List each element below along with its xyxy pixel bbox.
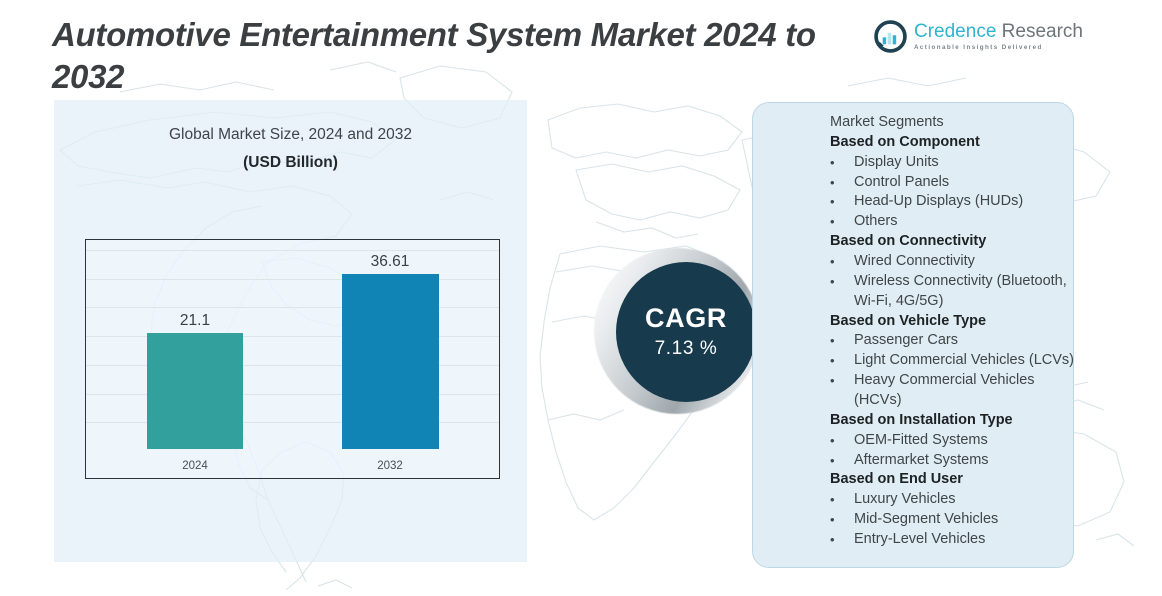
logo-tagline: Actionable Insights Delivered	[914, 44, 1083, 51]
segment-item-label: Wireless Connectivity (Bluetooth, Wi-Fi,…	[854, 272, 1076, 312]
segment-list-item[interactable]: •Aftermarket Systems	[830, 451, 1076, 471]
segment-item-label: Entry-Level Vehicles	[854, 530, 1076, 550]
bullet-icon: •	[830, 490, 854, 510]
chart-bar-value-label: 36.61	[342, 253, 439, 271]
segment-list-item[interactable]: •Wireless Connectivity (Bluetooth, Wi-Fi…	[830, 272, 1076, 312]
infographic-canvas: Automotive Entertainment System Market 2…	[0, 0, 1162, 596]
segment-item-label: Mid-Segment Vehicles	[854, 510, 1076, 530]
segment-list-item[interactable]: •Heavy Commercial Vehicles (HCVs)	[830, 371, 1076, 411]
brand-logo: Credence Research Actionable Insights De…	[874, 16, 1066, 56]
cagr-value: 7.13 %	[655, 338, 718, 360]
segment-item-label: Passenger Cars	[854, 331, 1076, 351]
chart-category-label: 2024	[147, 460, 243, 472]
segment-group-heading: Based on Connectivity	[830, 232, 1076, 252]
page-title: Automotive Entertainment System Market 2…	[52, 14, 882, 98]
bar-chart-circle-icon	[874, 20, 907, 53]
segment-item-label: OEM-Fitted Systems	[854, 431, 1076, 451]
segment-list-item[interactable]: •OEM-Fitted Systems	[830, 431, 1076, 451]
chart-category-label: 2032	[342, 460, 439, 472]
bullet-icon: •	[830, 351, 854, 371]
bullet-icon: •	[830, 212, 854, 232]
logo-name-secondary: Research	[1002, 21, 1083, 42]
bullet-icon: •	[830, 530, 854, 550]
segment-item-label: Aftermarket Systems	[854, 451, 1076, 471]
segment-item-label: Heavy Commercial Vehicles (HCVs)	[854, 371, 1076, 411]
segment-list-item[interactable]: •Wired Connectivity	[830, 252, 1076, 272]
chart-bar	[147, 333, 243, 449]
segment-item-label: Display Units	[854, 153, 1076, 173]
logo-name-primary: Credence	[914, 21, 996, 42]
segment-group-heading: Based on Vehicle Type	[830, 312, 1076, 332]
bullet-icon: •	[830, 451, 854, 471]
market-segments-list: Market Segments Based on Component•Displ…	[830, 113, 1076, 550]
chart-plot-area: 21.1202436.612032	[86, 240, 499, 478]
cagr-label: CAGR	[645, 304, 727, 334]
bar-chart: 21.1202436.612032	[85, 239, 500, 479]
segment-list-item[interactable]: •Entry-Level Vehicles	[830, 530, 1076, 550]
logo-name: Credence Research	[914, 22, 1083, 42]
segment-item-label: Wired Connectivity	[854, 252, 1076, 272]
segment-item-label: Luxury Vehicles	[854, 490, 1076, 510]
chart-bar	[342, 274, 439, 449]
bullet-icon: •	[830, 192, 854, 212]
segment-item-label: Light Commercial Vehicles (LCVs)	[854, 351, 1076, 371]
bullet-icon: •	[830, 272, 854, 292]
segment-item-label: Head-Up Displays (HUDs)	[854, 192, 1076, 212]
bullet-icon: •	[830, 153, 854, 173]
chart-heading: Global Market Size, 2024 and 2032	[54, 126, 527, 144]
segment-list-item[interactable]: •Luxury Vehicles	[830, 490, 1076, 510]
segment-list-item[interactable]: •Control Panels	[830, 173, 1076, 193]
segment-list-item[interactable]: •Display Units	[830, 153, 1076, 173]
chart-bar-value-label: 21.1	[147, 312, 243, 330]
segment-item-label: Others	[854, 212, 1076, 232]
logo-wordmark: Credence Research Actionable Insights De…	[914, 22, 1083, 51]
segment-group-heading: Based on Installation Type	[830, 411, 1076, 431]
segment-group-heading: Based on Component	[830, 133, 1076, 153]
segment-list-item[interactable]: •Head-Up Displays (HUDs)	[830, 192, 1076, 212]
segment-list-item[interactable]: •Light Commercial Vehicles (LCVs)	[830, 351, 1076, 371]
segment-item-label: Control Panels	[854, 173, 1076, 193]
chart-gridline	[86, 250, 499, 251]
segment-group-heading: Based on End User	[830, 470, 1076, 490]
cagr-badge: CAGR 7.13 %	[616, 262, 756, 402]
bullet-icon: •	[830, 252, 854, 272]
segment-list-item[interactable]: •Passenger Cars	[830, 331, 1076, 351]
bullet-icon: •	[830, 331, 854, 351]
bullet-icon: •	[830, 431, 854, 451]
chart-subheading: (USD Billion)	[54, 154, 527, 172]
bullet-icon: •	[830, 510, 854, 530]
bullet-icon: •	[830, 173, 854, 193]
bullet-icon: •	[830, 371, 854, 391]
segment-list-item[interactable]: •Others	[830, 212, 1076, 232]
segments-title: Market Segments	[830, 113, 1076, 133]
segment-list-item[interactable]: •Mid-Segment Vehicles	[830, 510, 1076, 530]
